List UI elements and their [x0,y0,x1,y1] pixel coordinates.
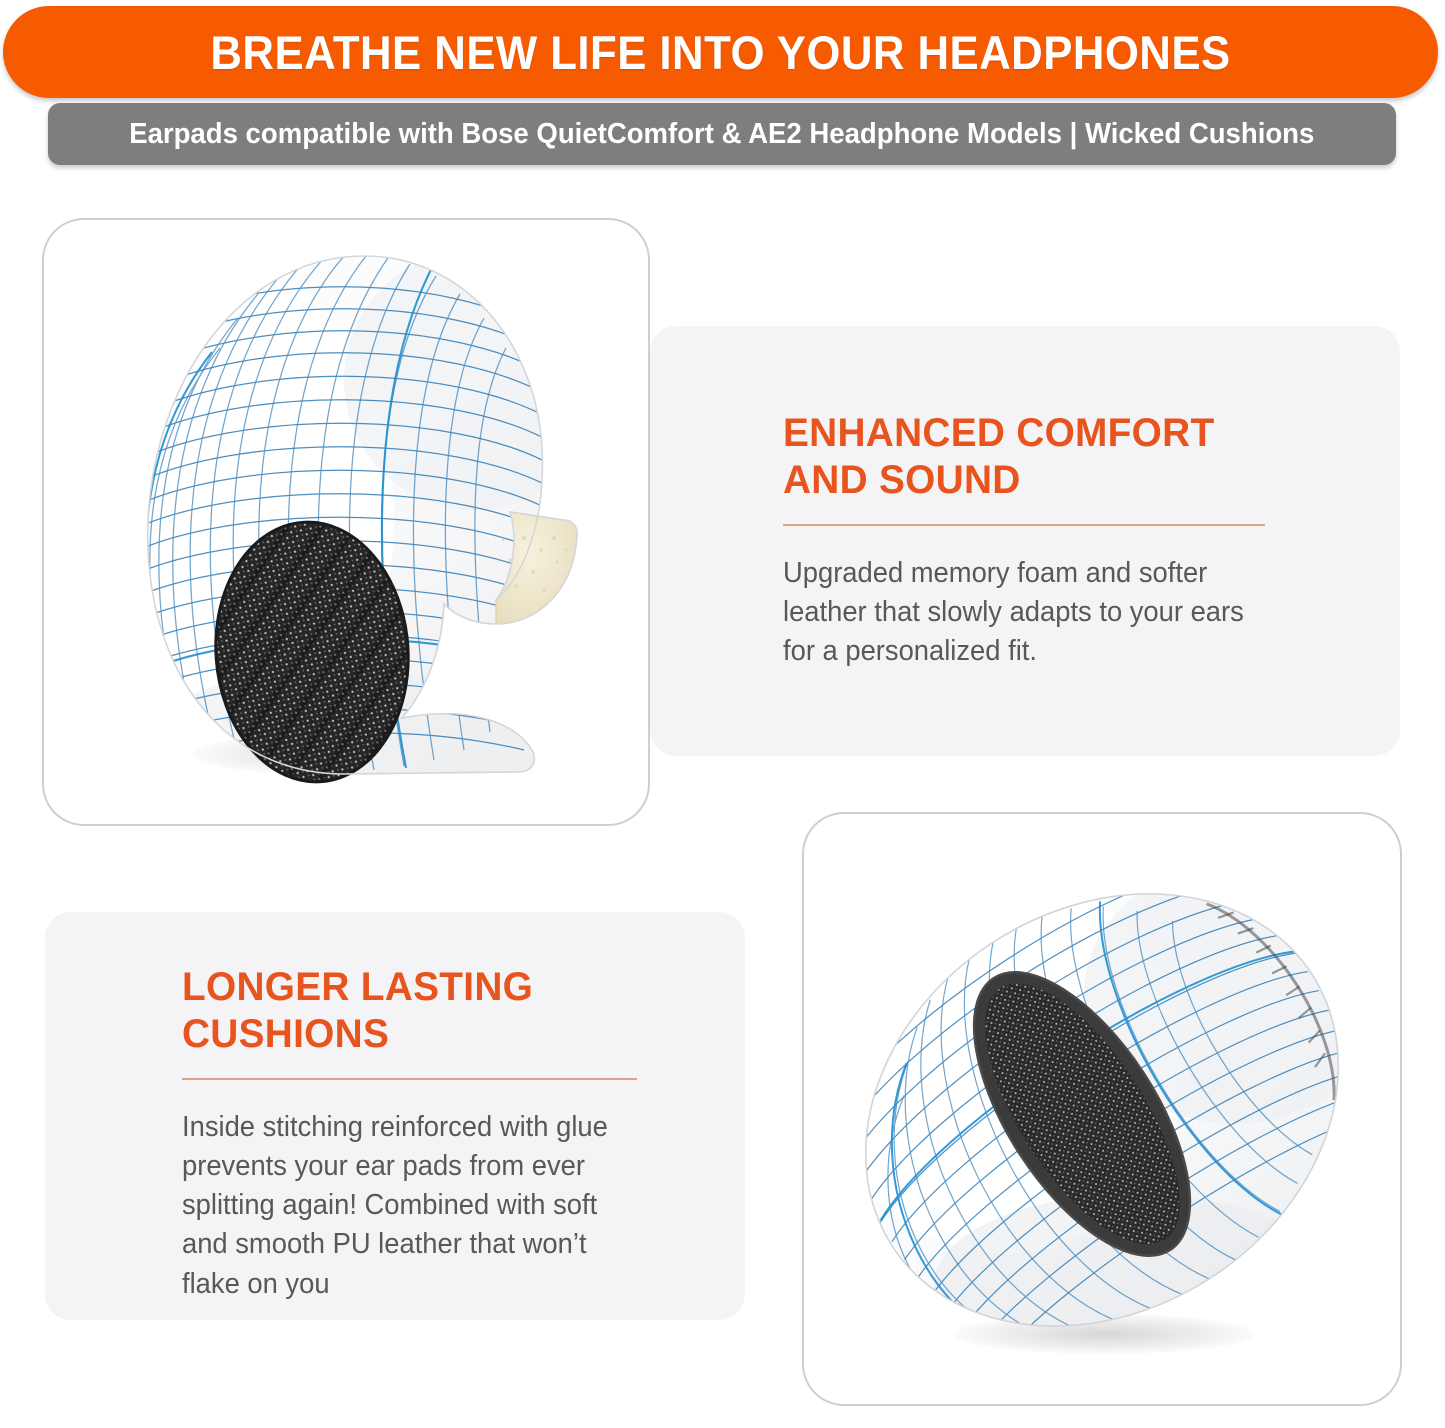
product-photo-card-angled [802,812,1402,1406]
feature-heading-2: LONGER LASTINGCUSHIONS [182,964,638,1058]
feature-body-1: Upgraded memory foam and softer leather … [783,554,1253,671]
feature-heading-1-line1: ENHANCED COMFORT [783,411,1214,455]
feature-divider-2 [182,1078,637,1080]
feature-heading-2-line2: CUSHIONS [182,1012,389,1056]
product-photo-card-cutaway [42,218,650,826]
feature-panel-enhanced-comfort: ENHANCED COMFORTAND SOUND Upgraded memor… [650,326,1400,756]
feature-heading-1-line2: AND SOUND [783,458,1021,502]
feature-heading-2-line1: LONGER LASTING [182,965,533,1009]
subtitle-text: Earpads compatible with Bose QuietComfor… [129,120,1314,149]
earpad-cutaway-front-view [44,220,648,824]
title-bar: BREATHE NEW LIFE INTO YOUR HEADPHONES [3,6,1438,98]
header-banner: BREATHE NEW LIFE INTO YOUR HEADPHONES Ea… [0,0,1445,175]
feature-heading-1: ENHANCED COMFORTAND SOUND [783,410,1258,504]
page-title: BREATHE NEW LIFE INTO YOUR HEADPHONES [210,29,1230,76]
earpad-illustration-front [44,220,648,824]
subtitle-bar: Earpads compatible with Bose QuietComfor… [48,103,1396,165]
feature-panel-longer-lasting: LONGER LASTINGCUSHIONS Inside stitching … [45,912,745,1320]
feature-body-2: Inside stitching reinforced with glue pr… [182,1108,633,1303]
feature-divider-1 [783,524,1265,526]
earpad-illustration-angled [804,814,1400,1404]
earpad-angled-view [804,814,1400,1404]
